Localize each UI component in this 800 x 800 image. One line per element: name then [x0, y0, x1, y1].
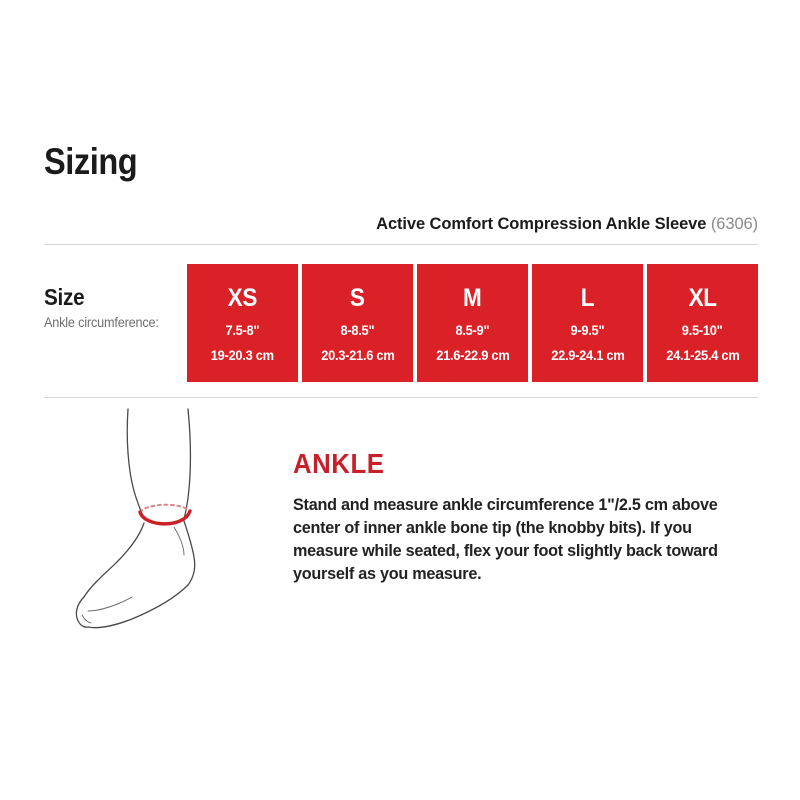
size-cell-cm: 24.1-25.4 cm — [666, 348, 739, 362]
sizing-chart-page: Sizing Active Comfort Compression Ankle … — [0, 0, 800, 800]
size-cell-inches: 9-9.5" — [571, 323, 605, 337]
size-cell-label: L — [581, 286, 594, 311]
size-cell-cm: 22.9-24.1 cm — [551, 348, 624, 362]
toe-crease-line — [88, 597, 132, 611]
divider-top — [44, 244, 758, 245]
size-cell-inches: 8-8.5" — [341, 323, 375, 337]
measure-band-back-arc — [140, 505, 190, 512]
size-cell-cm: 19-20.3 cm — [211, 348, 274, 362]
size-cell-label: XS — [228, 286, 257, 311]
divider-bottom — [44, 397, 758, 398]
calf-outline — [184, 409, 190, 519]
size-cell-cm: 21.6-22.9 cm — [436, 348, 509, 362]
instep-outline — [84, 523, 144, 597]
size-table: XS 7.5-8" 19-20.3 cm S 8-8.5" 20.3-21.6 … — [187, 264, 758, 382]
size-cell-inches: 7.5-8" — [226, 323, 260, 337]
shin-outline — [127, 409, 144, 519]
size-sublabel: Ankle circumference: — [44, 315, 171, 331]
toe-nail-line — [82, 615, 91, 623]
product-code: (6306) — [711, 215, 758, 233]
size-cell-cm: 20.3-21.6 cm — [321, 348, 394, 362]
heel-outline — [184, 521, 195, 585]
ankle-bone-line — [174, 527, 184, 555]
size-label-block: Size Ankle circumference: — [44, 285, 179, 331]
instruction-heading: ANKLE — [293, 450, 698, 478]
sole-outline — [88, 585, 188, 628]
toe-outline — [76, 597, 88, 627]
size-cell-l: L 9-9.5" 22.9-24.1 cm — [532, 264, 643, 382]
size-cell-s: S 8-8.5" 20.3-21.6 cm — [302, 264, 413, 382]
product-name-row: Active Comfort Compression Ankle Sleeve … — [44, 215, 758, 235]
product-name: Active Comfort Compression Ankle Sleeve — [376, 215, 706, 233]
size-cell-inches: 9.5-10" — [682, 323, 723, 337]
instruction-body: Stand and measure ankle circumference 1"… — [293, 494, 731, 586]
ankle-diagram-svg — [70, 405, 285, 655]
size-cell-label: S — [350, 286, 365, 311]
size-label: Size — [44, 285, 166, 310]
size-cell-label: M — [463, 286, 481, 311]
size-cell-label: XL — [688, 286, 716, 311]
instruction-block: ANKLE Stand and measure ankle circumfere… — [293, 450, 733, 586]
ankle-measurement-diagram — [70, 405, 285, 655]
size-cell-xl: XL 9.5-10" 24.1-25.4 cm — [647, 264, 758, 382]
size-cell-xs: XS 7.5-8" 19-20.3 cm — [187, 264, 298, 382]
size-cell-inches: 8.5-9" — [456, 323, 490, 337]
page-title: Sizing — [44, 143, 137, 180]
measure-band-front-arc — [140, 511, 190, 524]
size-cell-m: M 8.5-9" 21.6-22.9 cm — [417, 264, 528, 382]
